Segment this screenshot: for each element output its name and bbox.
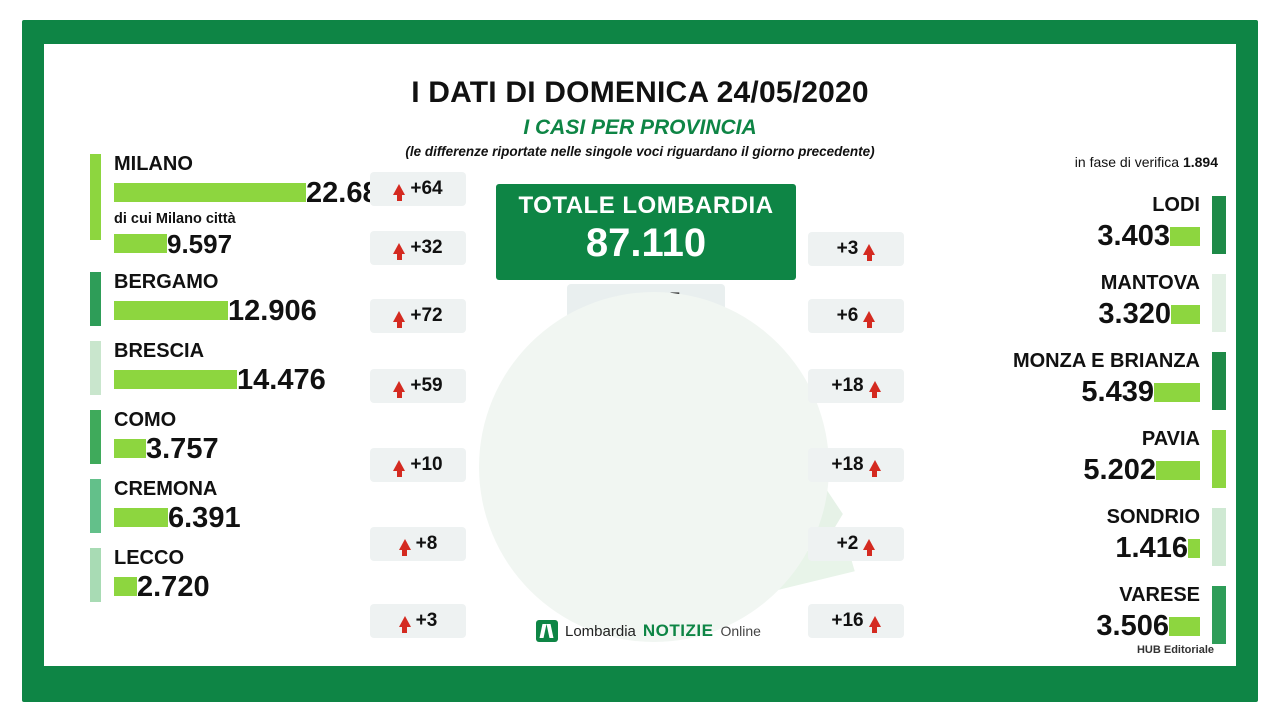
delta-mantova: +6 (808, 299, 904, 333)
delta-pavia: +18 (808, 448, 904, 482)
delta-value: +6 (837, 305, 859, 327)
province-value-row: 3.403 (896, 218, 1226, 254)
province-value: 14.476 (237, 363, 326, 397)
province-bergamo: BERGAMO 12.906 (90, 270, 410, 328)
province-lecco: LECCO 2.720 (90, 546, 410, 604)
province-value-row: 3.506 (896, 608, 1226, 644)
logo-text-lombardia: Lombardia (565, 623, 636, 640)
arrow-up-icon (393, 311, 405, 322)
arrow-up-icon (399, 539, 411, 550)
province-cremona: CREMONA 6.391 (90, 477, 410, 535)
content-card: I DATI DI DOMENICA 24/05/2020 I CASI PER… (44, 44, 1236, 666)
arrow-up-icon (869, 381, 881, 392)
delta-milano: +64 (370, 172, 466, 206)
province-sub-value: 9.597 (167, 229, 232, 259)
right-province-column: LODI 3.403 MANTOVA 3.320 MONZA E BRIANZA (896, 192, 1226, 660)
province-sondrio: SONDRIO 1.416 (896, 504, 1226, 570)
province-bar (1170, 227, 1200, 246)
delta-varese: +16 (808, 604, 904, 638)
delta-value: +64 (410, 178, 442, 200)
province-bar (1188, 539, 1200, 558)
province-value-row: 12.906 (90, 294, 410, 328)
province-brescia: BRESCIA 14.476 (90, 339, 410, 397)
verification-value: 1.894 (1183, 154, 1218, 170)
province-value: 3.506 (1096, 610, 1169, 642)
province-sub-bar (114, 234, 167, 253)
province-value: 2.720 (137, 570, 210, 604)
province-name: PAVIA (896, 426, 1226, 452)
province-value: 12.906 (228, 294, 317, 328)
credit-label: HUB Editoriale (1137, 644, 1214, 656)
lombardy-map (444, 272, 864, 652)
province-value: 6.391 (168, 501, 241, 535)
province-sub-value-row: 9.597 (90, 229, 410, 259)
logo-text-online: Online (720, 623, 760, 639)
delta-value: +8 (416, 533, 438, 555)
province-bar (1171, 305, 1200, 324)
province-value-row: 1.416 (896, 530, 1226, 566)
page-title: I DATI DI DOMENICA 24/05/2020 (44, 76, 1236, 110)
delta-value: +72 (410, 305, 442, 327)
province-como: COMO 3.757 (90, 408, 410, 466)
delta-milano-citta: +32 (370, 231, 466, 265)
delta-value: +59 (410, 375, 442, 397)
province-name: MONZA E BRIANZA (896, 348, 1226, 374)
province-value: 3.403 (1097, 220, 1170, 252)
province-value: 3.320 (1098, 298, 1171, 330)
province-bar (114, 183, 306, 202)
arrow-up-icon (399, 616, 411, 627)
province-name: BRESCIA (90, 339, 410, 363)
province-value-row: 5.439 (896, 374, 1226, 410)
province-name: LODI (896, 192, 1226, 218)
arrow-up-icon (863, 539, 875, 550)
logo-text-notizie: NOTIZIE (643, 621, 714, 641)
arrow-up-icon (393, 381, 405, 392)
province-name: SONDRIO (896, 504, 1226, 530)
delta-monza: +18 (808, 369, 904, 403)
province-sub-label: di cui Milano città (90, 210, 410, 229)
province-value-row: 6.391 (90, 501, 410, 535)
delta-value: +18 (831, 375, 863, 397)
delta-value: +32 (410, 237, 442, 259)
province-monza-brianza: MONZA E BRIANZA 5.439 (896, 348, 1226, 414)
province-value-row: 2.720 (90, 570, 410, 604)
province-value-row: 14.476 (90, 363, 410, 397)
map-background-disc (479, 292, 829, 642)
province-bar (114, 439, 146, 458)
total-lombardia-box: TOTALE LOMBARDIA 87.110 (496, 184, 796, 280)
province-bar (114, 301, 228, 320)
delta-value: +2 (837, 533, 859, 555)
delta-value: +3 (837, 238, 859, 260)
verification-label: in fase di verifica (1075, 154, 1179, 170)
arrow-up-icon (863, 244, 875, 255)
delta-value: +18 (831, 454, 863, 476)
province-bar (114, 577, 137, 596)
arrow-up-icon (869, 616, 881, 627)
province-value: 3.757 (146, 432, 219, 466)
arrow-up-icon (869, 460, 881, 471)
delta-sondrio: +2 (808, 527, 904, 561)
logo-lombardia-notizie: Lombardia NOTIZIE Online (536, 620, 761, 642)
total-value: 87.110 (496, 220, 796, 266)
province-bar (114, 370, 237, 389)
arrow-up-icon (863, 311, 875, 322)
page-subtitle: I CASI PER PROVINCIA (44, 116, 1236, 140)
province-bar (1156, 461, 1200, 480)
province-name: MILANO (90, 152, 410, 176)
province-name: COMO (90, 408, 410, 432)
province-value: 5.439 (1081, 376, 1154, 408)
lombardia-logo-icon (536, 620, 558, 642)
province-value: 1.416 (1115, 532, 1188, 564)
province-bar (1169, 617, 1200, 636)
province-bar (1154, 383, 1200, 402)
province-mantova: MANTOVA 3.320 (896, 270, 1226, 336)
delta-value: +16 (831, 610, 863, 632)
delta-value: +3 (416, 610, 438, 632)
province-name: VARESE (896, 582, 1226, 608)
arrow-up-icon (393, 460, 405, 471)
arrow-up-icon (393, 243, 405, 254)
province-name: CREMONA (90, 477, 410, 501)
province-value-row: 3.320 (896, 296, 1226, 332)
province-name: LECCO (90, 546, 410, 570)
province-milano: MILANO 22.680 di cui Milano città 9.597 (90, 152, 410, 259)
province-varese: VARESE 3.506 (896, 582, 1226, 648)
delta-value: +10 (410, 454, 442, 476)
province-pavia: PAVIA 5.202 (896, 426, 1226, 492)
verification-status: in fase di verifica 1.894 (1075, 154, 1218, 170)
total-label: TOTALE LOMBARDIA (496, 192, 796, 220)
delta-lodi: +3 (808, 232, 904, 266)
province-name: BERGAMO (90, 270, 410, 294)
province-bar (114, 508, 168, 527)
arrow-up-icon (393, 184, 405, 195)
province-name: MANTOVA (896, 270, 1226, 296)
province-value: 5.202 (1083, 454, 1156, 486)
province-lodi: LODI 3.403 (896, 192, 1226, 258)
infographic-root: I DATI DI DOMENICA 24/05/2020 I CASI PER… (0, 0, 1280, 720)
province-value-row: 5.202 (896, 452, 1226, 488)
province-value-row: 3.757 (90, 432, 410, 466)
province-value-row: 22.680 (90, 176, 410, 210)
left-province-column: MILANO 22.680 di cui Milano città 9.597 … (90, 152, 410, 615)
